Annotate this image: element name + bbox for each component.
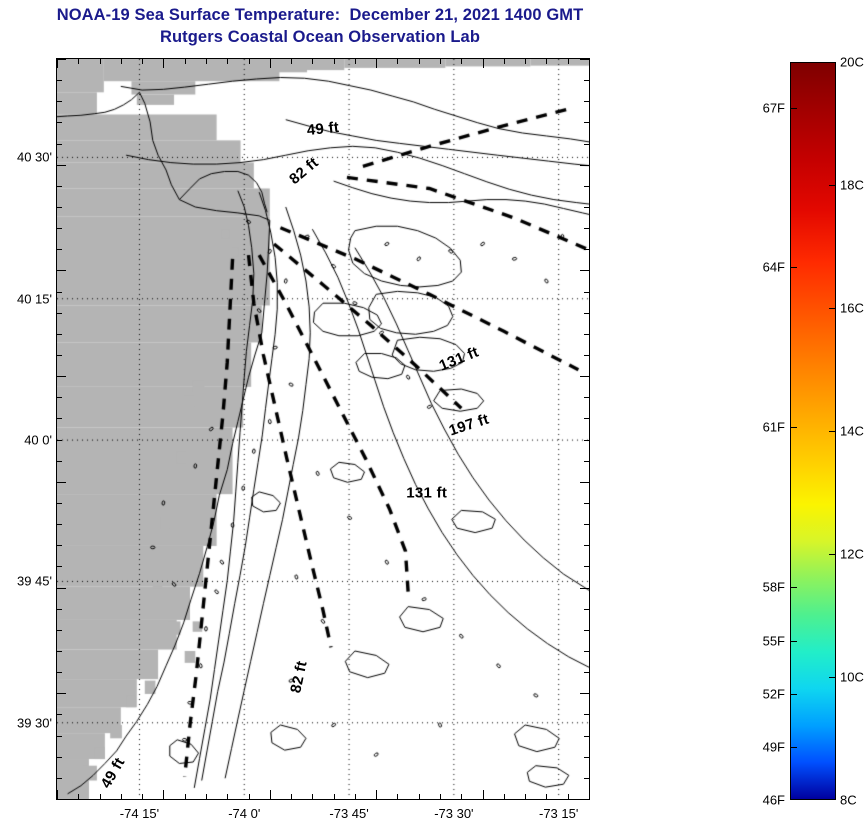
colorbar-c-label-5: 10C [840, 669, 864, 684]
y-axis-label-4: 39 30' [17, 715, 52, 730]
depth-label-4: 131 ft [406, 485, 447, 502]
colorbar-f-tick-3 [790, 587, 797, 588]
colorbar-f-label-6: 49F [763, 739, 785, 754]
y-axis-ticks-right [56, 58, 590, 800]
y-axis-label-1: 40 15' [17, 291, 52, 306]
colorbar-c-label-0: 20C [840, 55, 864, 70]
colorbar-f-tick-6 [790, 747, 797, 748]
colorbar-f-label-4: 55F [763, 634, 785, 649]
x-axis-label-1: -74 0' [228, 806, 260, 821]
colorbar-f-tick-4 [790, 641, 797, 642]
colorbar-f-tick-1 [790, 267, 797, 268]
colorbar-c-label-3: 14C [840, 424, 864, 439]
colorbar-f-tick-2 [790, 427, 797, 428]
x-axis-label-3: -73 30' [434, 806, 473, 821]
y-axis-label-3: 39 45' [17, 574, 52, 589]
colorbar-c-label-2: 16C [840, 300, 864, 315]
colorbar-c-label-4: 12C [840, 547, 864, 562]
colorbar-c-tick-5 [829, 677, 836, 678]
colorbar-f-label-3: 58F [763, 580, 785, 595]
colorbar-f-tick-5 [790, 694, 797, 695]
colorbar-c-label-1: 18C [840, 178, 864, 193]
colorbar-f-label-1: 64F [763, 260, 785, 275]
colorbar-c-tick-3 [829, 431, 836, 432]
colorbar-f-tick-0 [790, 108, 797, 109]
chart-title-block: NOAA-19 Sea Surface Temperature: Decembe… [0, 4, 640, 48]
colorbar-f-label-0: 67F [763, 100, 785, 115]
colorbar-c-tick-2 [829, 308, 836, 309]
colorbar-f-label-7: 46F [763, 793, 785, 808]
x-axis-label-0: -74 15' [120, 806, 159, 821]
colorbar-f-label-2: 61F [763, 420, 785, 435]
y-axis-label-0: 40 30' [17, 150, 52, 165]
colorbar-c-tick-4 [829, 554, 836, 555]
colorbar-c-tick-1 [829, 185, 836, 186]
colorbar-f-label-5: 52F [763, 687, 785, 702]
x-axis-label-4: -73 15' [539, 806, 578, 821]
y-axis-label-2: 40 0' [24, 433, 52, 448]
page-subtitle: Rutgers Coastal Ocean Observation Lab [0, 26, 640, 48]
page-title: NOAA-19 Sea Surface Temperature: Decembe… [0, 4, 640, 26]
colorbar-c-label-6: 8C [840, 793, 857, 808]
x-axis-label-2: -73 45' [329, 806, 368, 821]
